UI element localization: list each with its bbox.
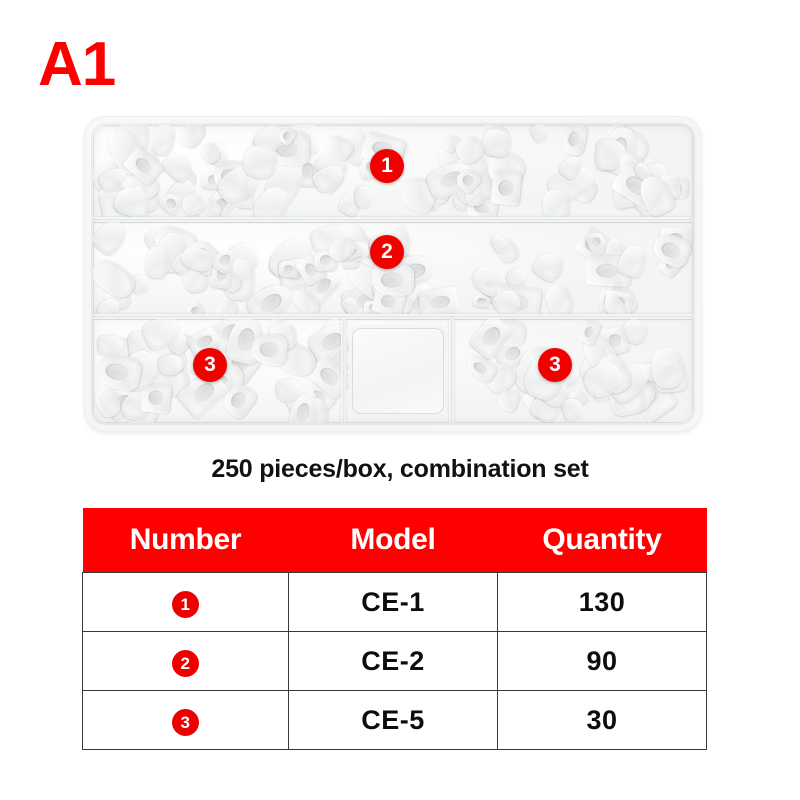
cell-number: 2 <box>83 632 289 691</box>
column-header-quantity: Quantity <box>498 508 707 573</box>
table-row: 2CE-290 <box>83 632 707 691</box>
spec-table-head: Number Model Quantity <box>83 508 707 573</box>
callout-3-right: 3 <box>538 348 572 382</box>
plastic-connector-part <box>530 125 552 144</box>
plastic-connector-part <box>355 185 374 209</box>
spec-table-body: 1CE-11302CE-2903CE-530 <box>83 573 707 750</box>
cell-model: CE-5 <box>289 691 498 750</box>
plastic-connector-part <box>145 246 171 279</box>
callout-3-left: 3 <box>193 348 227 382</box>
cell-number: 3 <box>83 691 289 750</box>
compartment-divider-rib <box>93 217 693 222</box>
cell-model: CE-1 <box>289 573 498 632</box>
plastic-connector-part <box>93 254 139 303</box>
plastic-connector-part <box>93 222 132 258</box>
variant-label: A1 <box>38 34 115 96</box>
column-header-model: Model <box>289 508 498 573</box>
cell-quantity: 30 <box>498 691 707 750</box>
product-caption: 250 pieces/box, combination set <box>0 455 800 484</box>
plastic-connector-part <box>491 170 522 205</box>
cell-quantity: 90 <box>498 632 707 691</box>
row-number-badge: 3 <box>172 709 199 736</box>
compartment-divider-rib <box>341 319 346 423</box>
row-number-badge: 2 <box>172 650 199 677</box>
cell-number: 1 <box>83 573 289 632</box>
plastic-connector-part <box>185 301 206 315</box>
plastic-connector-part <box>212 297 239 315</box>
compartment-divider-rib <box>93 314 693 319</box>
compartment-divider-rib <box>449 319 454 423</box>
cell-model: CE-2 <box>289 632 498 691</box>
callout-1: 1 <box>370 149 404 183</box>
plastic-connector-part <box>543 282 576 315</box>
plastic-connector-part <box>651 347 684 388</box>
row-number-badge: 1 <box>172 591 199 618</box>
table-header-row: Number Model Quantity <box>83 508 707 573</box>
plastic-connector-part <box>372 264 414 296</box>
table-row: 3CE-530 <box>83 691 707 750</box>
cell-quantity: 130 <box>498 573 707 632</box>
column-header-number: Number <box>83 508 289 573</box>
spec-table: Number Model Quantity 1CE-11302CE-2903CE… <box>82 508 707 750</box>
empty-compartment <box>349 325 447 417</box>
callout-2: 2 <box>370 235 404 269</box>
table-row: 1CE-1130 <box>83 573 707 632</box>
plastic-connector-part <box>472 294 490 308</box>
